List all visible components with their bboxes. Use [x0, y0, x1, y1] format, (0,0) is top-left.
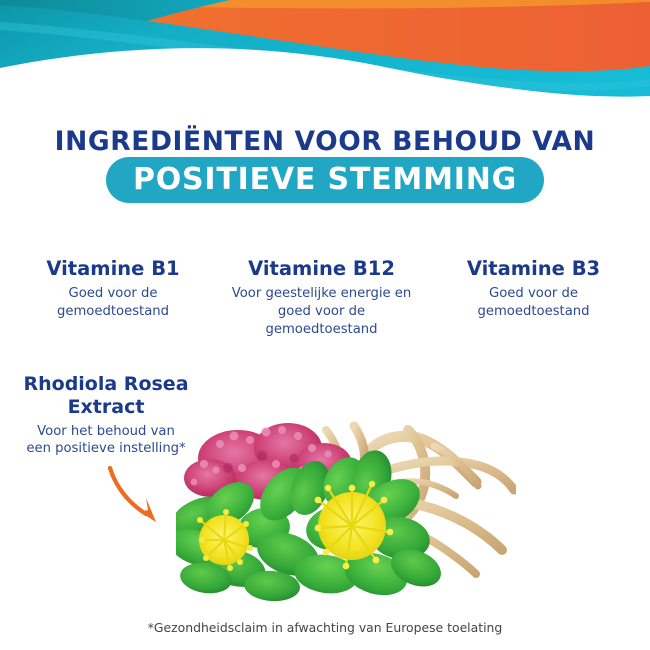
rhodiola-name-line1: Rhodiola Rosea	[6, 373, 206, 396]
vitamin-b1-name: Vitamine B1	[17, 258, 210, 280]
vitamin-b1-desc: Goed voor de gemoedtoestand	[17, 285, 210, 321]
vitamin-b3-desc-line2: gemoedtoestand	[434, 303, 634, 321]
vitamin-b12-name: Vitamine B12	[222, 258, 422, 280]
curved-arrow-icon	[96, 458, 176, 536]
infographic-page: INGREDIËNTEN VOOR BEHOUD VAN POSITIEVE S…	[0, 0, 650, 650]
vitamin-b1-desc-line2: gemoedtoestand	[17, 303, 210, 321]
vitamin-b12-desc-line2: goed voor de gemoedtoestand	[222, 303, 422, 339]
vitamin-b3-desc: Goed voor de gemoedtoestand	[434, 285, 634, 321]
vitamin-b1-desc-line1: Goed voor de	[17, 285, 210, 303]
vitamin-columns: Vitamine B1 Goed voor de gemoedtoestand …	[0, 258, 650, 339]
vitamin-column-b3: Vitamine B3 Goed voor de gemoedtoestand	[428, 258, 640, 321]
vitamin-b12-desc-line1: Voor geestelijke energie en	[222, 285, 422, 303]
top-wave-banner	[0, 0, 650, 115]
page-title-line1: INGREDIËNTEN VOOR BEHOUD VAN	[0, 126, 650, 157]
vitamin-b3-name: Vitamine B3	[434, 258, 634, 280]
arrow-shaft	[110, 468, 146, 514]
page-title-pill: POSITIEVE STEMMING	[106, 157, 544, 203]
footnote-text: *Gezondheidsclaim in afwachting van Euro…	[0, 620, 650, 635]
vitamin-column-b1: Vitamine B1 Goed voor de gemoedtoestand	[11, 258, 216, 321]
rhodiola-plant-image	[176, 408, 516, 606]
page-title-pill-label: POSITIEVE STEMMING	[133, 165, 517, 195]
vitamin-b12-desc: Voor geestelijke energie en goed voor de…	[222, 285, 422, 338]
vitamin-column-b12: Vitamine B12 Voor geestelijke energie en…	[216, 258, 428, 339]
vitamin-b3-desc-line1: Goed voor de	[434, 285, 634, 303]
